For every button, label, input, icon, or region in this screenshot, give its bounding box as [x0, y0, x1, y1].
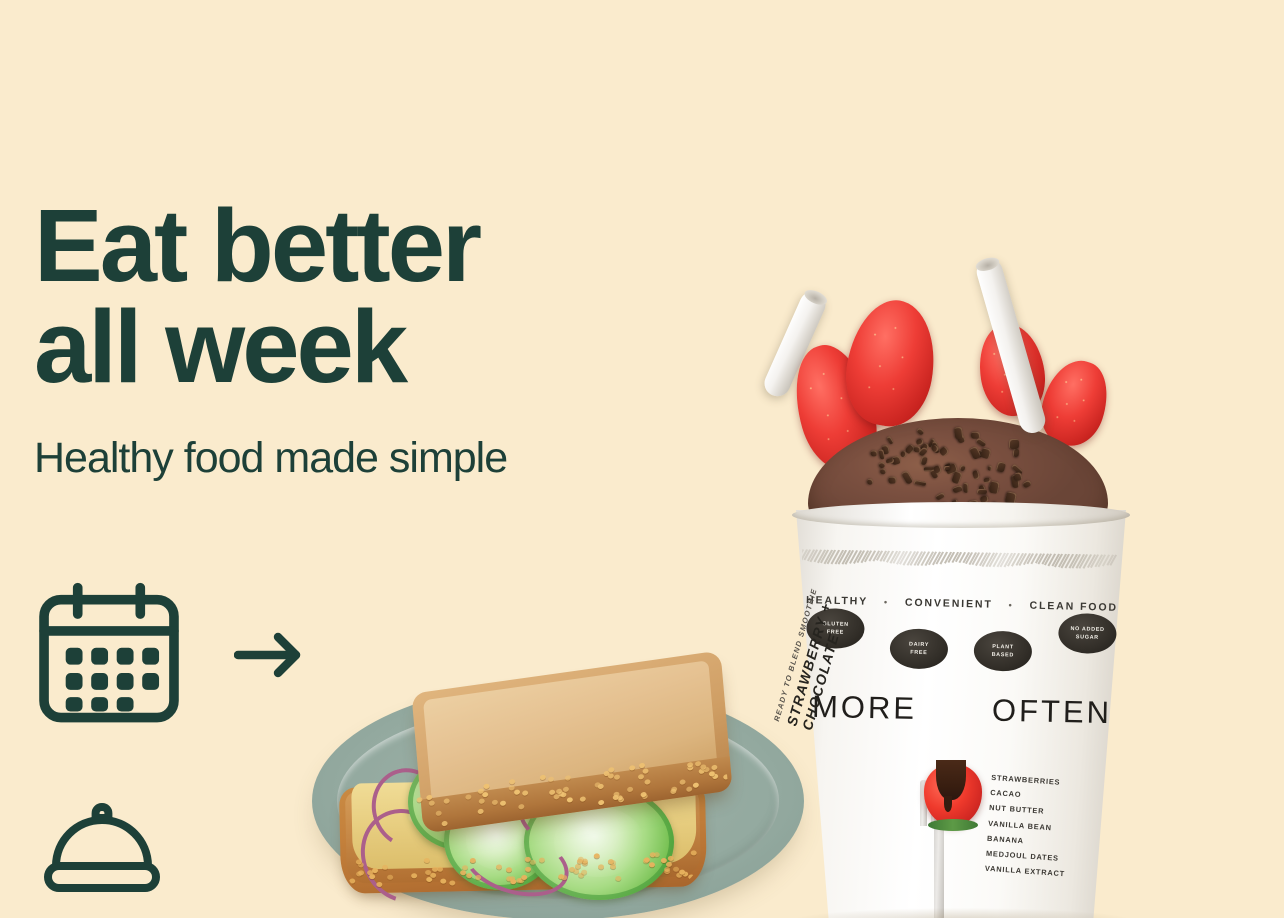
tagline-separator-icon: • — [1009, 600, 1014, 610]
brand-word-often: OFTEN — [992, 693, 1113, 732]
badge-no-added-sugar: NO ADDED SUGAR — [1058, 613, 1117, 655]
badge-line-2: SUGAR — [1076, 633, 1099, 642]
arrow-right-icon — [234, 629, 306, 681]
hero-copy: Eat better all week Healthy food made si… — [34, 196, 714, 483]
calendar-icon — [32, 578, 186, 732]
badge-plant-based: PLANT BASED — [973, 630, 1032, 672]
smoothie-cup: HEALTHY • CONVENIENT • CLEAN FOOD GLUTEN… — [752, 252, 1172, 918]
icon-row — [32, 578, 306, 732]
cup-tagline-cleanfood: CLEAN FOOD — [1029, 600, 1118, 614]
fork-strawberry-graphic — [910, 758, 968, 918]
sandwich-plate — [312, 672, 804, 918]
badge-line-2: BASED — [991, 651, 1014, 660]
cucumber-hummus-sandwich — [312, 672, 804, 918]
cup-rim — [792, 502, 1130, 528]
bread-seeds — [346, 844, 699, 891]
promo-banner: Eat better all week Healthy food made si… — [0, 0, 1284, 918]
page-subtitle: Healthy food made simple — [34, 434, 714, 483]
page-title: Eat better all week — [34, 196, 714, 398]
cup-ingredient-list: STRAWBERRIESCACAONUT BUTTERVANILLA BEANB… — [984, 770, 1111, 884]
food-cloche-icon — [42, 792, 162, 898]
